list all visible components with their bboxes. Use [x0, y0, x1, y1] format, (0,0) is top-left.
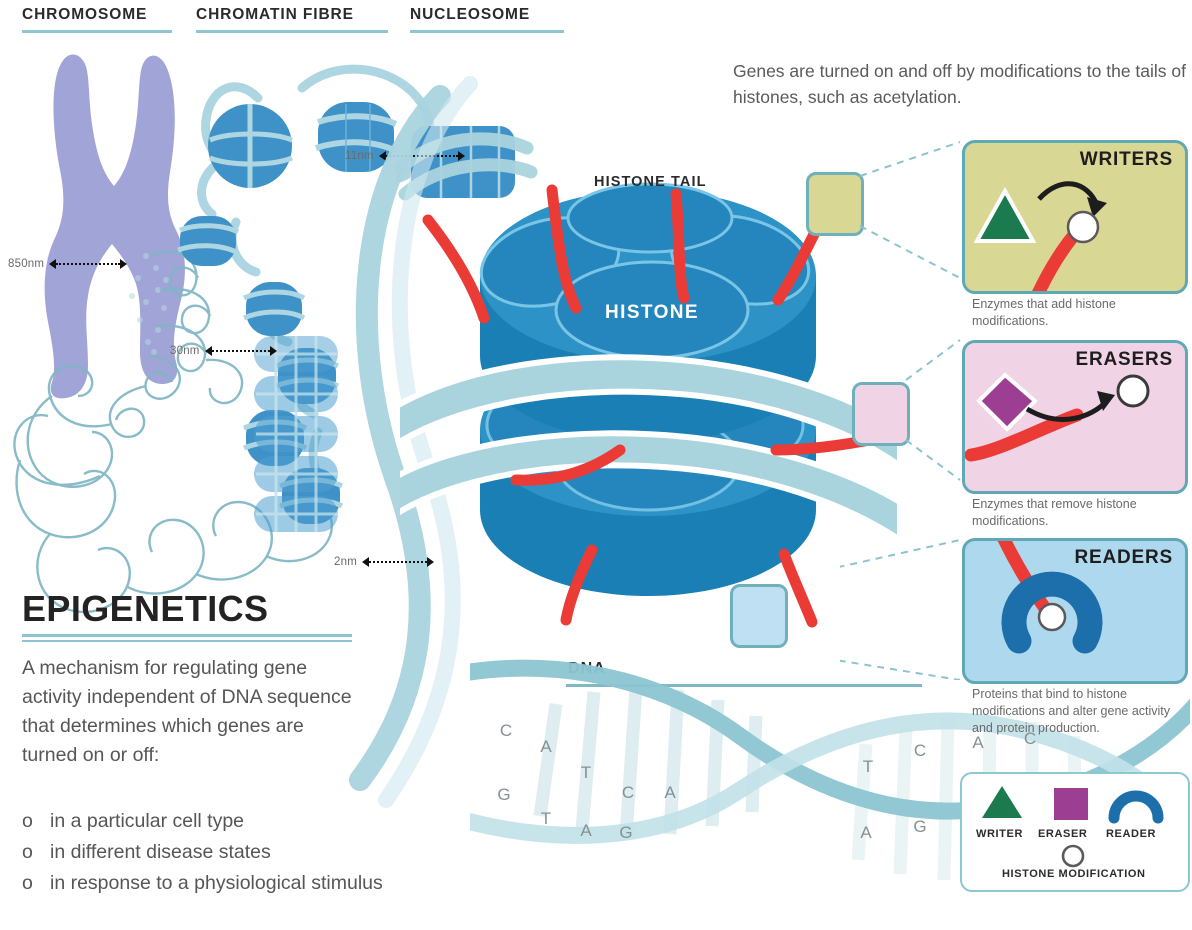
panel-readers-caption: Proteins that bind to histone modificati…: [972, 686, 1172, 737]
bullet-marker: o: [22, 868, 50, 899]
svg-text:T: T: [541, 809, 551, 828]
histone-modification-circle-icon: [1039, 604, 1065, 630]
legend-label-reader: READER: [1106, 828, 1156, 840]
dotted-line: [212, 350, 270, 352]
measurement-2nm-label: 2nm: [334, 556, 357, 568]
panel-writers-caption: Enzymes that add histone modifications.: [972, 296, 1172, 330]
callout-square-readers[interactable]: [730, 584, 788, 648]
legend-label-eraser: ERASER: [1038, 828, 1087, 840]
svg-text:A: A: [664, 783, 676, 802]
list-item: o in a particular cell type: [22, 806, 502, 837]
dotted-line: [56, 263, 120, 265]
svg-text:A: A: [580, 821, 592, 840]
legend-label-histone-modification: HISTONE MODIFICATION: [1002, 868, 1146, 880]
section-rule-chromatin-fibre: [196, 30, 388, 33]
legend-reader-horseshoe-icon: [1114, 796, 1158, 818]
svg-text:G: G: [619, 823, 632, 842]
svg-text:C: C: [914, 741, 926, 760]
panel-erasers[interactable]: ERASERS: [962, 340, 1188, 494]
measurement-30nm: 30nm: [170, 345, 277, 357]
section-header-nucleosome: NUCLEOSOME: [410, 6, 530, 24]
callout-connectors: [840, 120, 980, 680]
arrowhead-right-icon: [120, 259, 127, 269]
legend-writer-triangle-icon: [982, 786, 1022, 818]
panel-erasers-caption: Enzymes that remove histone modification…: [972, 496, 1172, 530]
title-rule-top: [22, 634, 352, 637]
measurement-850nm-label: 850nm: [8, 258, 44, 270]
section-header-chromatin-fibre: CHROMATIN FIBRE: [196, 6, 354, 24]
measurement-30nm-bar: [205, 346, 277, 356]
svg-text:T: T: [581, 763, 591, 782]
svg-text:A: A: [540, 737, 552, 756]
arrowhead-left-icon: [205, 346, 212, 356]
svg-text:G: G: [497, 785, 510, 804]
intro-text: Genes are turned on and off by modificat…: [733, 58, 1192, 110]
list-item: o in response to a physiological stimulu…: [22, 868, 502, 899]
panel-writers-title: WRITERS: [1080, 149, 1173, 171]
histone-modification-circle-icon: [1068, 212, 1098, 242]
histone-tail-label: HISTONE TAIL: [594, 174, 707, 190]
writer-triangle-icon: [977, 191, 1033, 241]
bullet-marker: o: [22, 837, 50, 868]
measurement-850nm-bar: [49, 259, 127, 269]
arrowhead-right-icon: [270, 346, 277, 356]
panel-writers[interactable]: WRITERS: [962, 140, 1188, 294]
section-rule-chromosome: [22, 30, 172, 33]
legend-histone-modification-circle-icon: [1063, 846, 1083, 866]
list-item: o in different disease states: [22, 837, 502, 868]
panel-erasers-title: ERASERS: [1076, 349, 1173, 371]
title-rule-bottom: [22, 640, 352, 642]
panel-readers-title: READERS: [1074, 547, 1173, 569]
histone-modification-circle-icon: [1118, 376, 1148, 406]
svg-text:C: C: [500, 721, 512, 740]
measurement-30nm-label: 30nm: [170, 345, 200, 357]
page-title: EPIGENETICS: [22, 588, 268, 630]
svg-text:T: T: [863, 757, 873, 776]
list-item-label: in different disease states: [50, 837, 271, 868]
measurement-850nm: 850nm: [8, 258, 127, 270]
bullet-marker: o: [22, 806, 50, 837]
legend-label-writer: WRITER: [976, 828, 1023, 840]
arrowhead-left-icon: [49, 259, 56, 269]
arrowhead-left-icon: [362, 557, 369, 567]
epigenetics-bullet-list: o in a particular cell type o in differe…: [22, 806, 502, 899]
epigenetics-description: A mechanism for regulating gene activity…: [22, 654, 362, 770]
section-header-chromosome: CHROMOSOME: [22, 6, 147, 24]
legend-box: WRITER ERASER READER HISTONE MODIFICATIO…: [960, 772, 1190, 892]
svg-text:G: G: [913, 817, 926, 836]
list-item-label: in response to a physiological stimulus: [50, 868, 383, 899]
list-item-label: in a particular cell type: [50, 806, 244, 837]
eraser-diamond-icon: [979, 375, 1035, 429]
panel-readers[interactable]: READERS: [962, 538, 1188, 684]
legend-eraser-square-icon: [1054, 788, 1088, 820]
svg-text:A: A: [860, 823, 872, 842]
svg-text:C: C: [622, 783, 634, 802]
section-rule-nucleosome: [410, 30, 564, 33]
